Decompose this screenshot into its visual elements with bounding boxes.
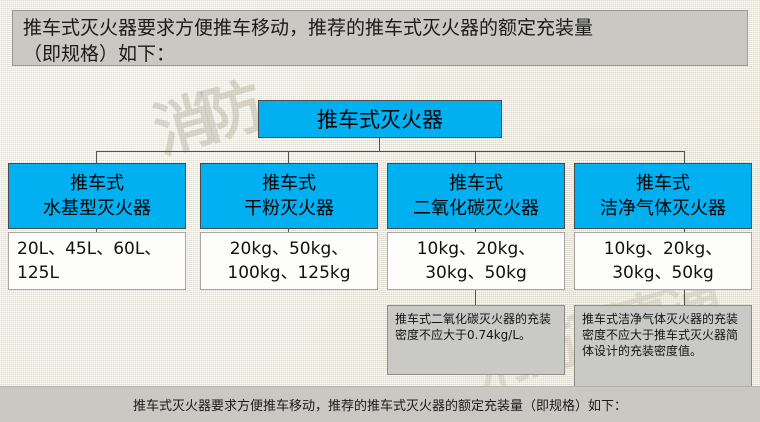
values-line2: 100kg、125kg bbox=[227, 261, 350, 285]
header-line-2: （即规格）如下： bbox=[23, 41, 741, 67]
node-head-clean-agent[interactable]: 推车式 洁净气体灭火器 bbox=[574, 163, 752, 229]
node-head-water-based[interactable]: 推车式 水基型灭火器 bbox=[8, 163, 186, 229]
connector-drop-2 bbox=[288, 151, 289, 163]
node-values-carbon-dioxide: 10kg、20kg、 30kg、50kg bbox=[387, 232, 565, 290]
connector-root-stem bbox=[379, 138, 380, 151]
connector-horizontal-bus bbox=[96, 151, 684, 152]
node-root[interactable]: 推车式灭火器 bbox=[258, 100, 502, 138]
values-line2: 30kg、50kg bbox=[425, 261, 527, 285]
node-values-clean-agent: 10kg、20kg、 30kg、50kg bbox=[574, 232, 752, 290]
node-values-water-based: 20L、45L、60L、 125L bbox=[8, 232, 186, 290]
node-head-line2: 水基型灭火器 bbox=[43, 196, 151, 221]
node-head-line1: 推车式 bbox=[449, 171, 503, 196]
values-line2: 30kg、50kg bbox=[612, 261, 714, 285]
node-note-clean-agent: 推车式洁净气体灭火器的充装密度不应大于推车式灭火器简体设计的充装密度值。 bbox=[574, 305, 752, 388]
node-head-line1: 推车式 bbox=[70, 171, 124, 196]
values-line1: 10kg、20kg、 bbox=[417, 237, 536, 261]
bottom-caption-bar: 推车式灭火器要求方便推车移动，推荐的推车式灭火器的额定充装量（即规格）如下： bbox=[0, 386, 760, 422]
node-root-label: 推车式灭火器 bbox=[317, 104, 443, 134]
header-line-1: 推车式灭火器要求方便推车移动，推荐的推车式灭火器的额定充装量 bbox=[23, 15, 741, 41]
values-line1: 20L、45L、60L、 bbox=[17, 237, 161, 261]
branch-column-water-based: 推车式 水基型灭火器 20L、45L、60L、 125L bbox=[8, 163, 186, 229]
connector-drop-4 bbox=[684, 151, 685, 163]
node-head-line2: 二氧化碳灭火器 bbox=[413, 196, 539, 221]
branch-column-dry-powder: 推车式 干粉灭火器 20kg、50kg、 100kg、125kg bbox=[200, 163, 378, 229]
connector-values-to-note-4 bbox=[684, 290, 685, 305]
connector-values-to-note-3 bbox=[475, 290, 476, 305]
node-head-line2: 干粉灭火器 bbox=[244, 196, 334, 221]
values-line1: 10kg、20kg、 bbox=[604, 237, 723, 261]
bottom-caption-text: 推车式灭火器要求方便推车移动，推荐的推车式灭火器的额定充装量（即规格）如下： bbox=[133, 395, 627, 414]
values-line1: 20kg、50kg、 bbox=[230, 237, 349, 261]
node-head-line2: 洁净气体灭火器 bbox=[600, 196, 726, 221]
node-head-carbon-dioxide[interactable]: 推车式 二氧化碳灭火器 bbox=[387, 163, 565, 229]
node-note-carbon-dioxide: 推车式二氧化碳灭火器的充装密度不应大于0.74kg/L。 bbox=[387, 305, 565, 375]
connector-drop-3 bbox=[475, 151, 476, 163]
node-values-dry-powder: 20kg、50kg、 100kg、125kg bbox=[200, 232, 378, 290]
branch-column-carbon-dioxide: 推车式 二氧化碳灭火器 10kg、20kg、 30kg、50kg 推车式二氧化碳… bbox=[387, 163, 565, 229]
node-head-dry-powder[interactable]: 推车式 干粉灭火器 bbox=[200, 163, 378, 229]
values-line2: 125L bbox=[17, 261, 59, 285]
connector-drop-1 bbox=[96, 151, 97, 163]
node-head-line1: 推车式 bbox=[262, 171, 316, 196]
header-banner: 推车式灭火器要求方便推车移动，推荐的推车式灭火器的额定充装量 （即规格）如下： bbox=[12, 10, 748, 66]
node-head-line1: 推车式 bbox=[636, 171, 690, 196]
branch-column-clean-agent: 推车式 洁净气体灭火器 10kg、20kg、 30kg、50kg 推车式洁净气体… bbox=[574, 163, 752, 229]
